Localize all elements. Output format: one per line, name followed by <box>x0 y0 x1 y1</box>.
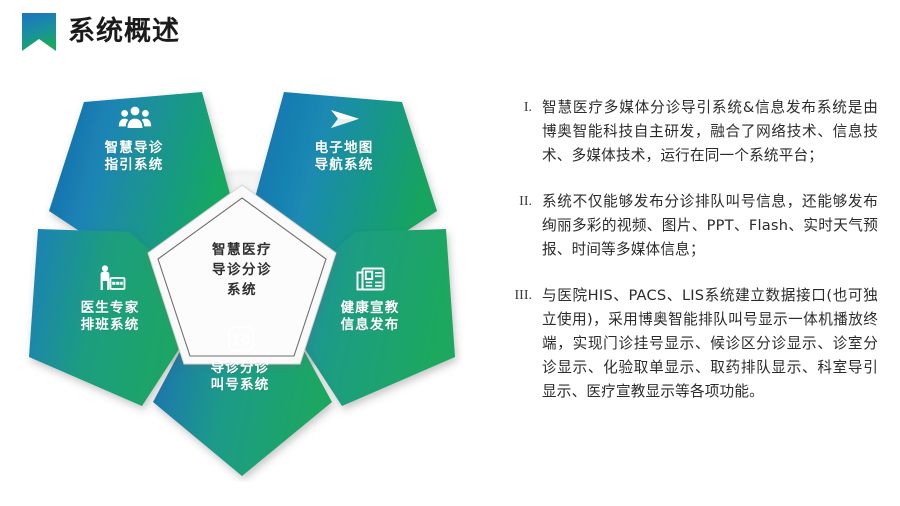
number-badge-10-icon: 10 <box>224 322 258 356</box>
petal-label-smart-triage-guidance: 智慧导诊 指引系统 <box>74 140 194 174</box>
page-header: 系统概述 <box>0 0 900 70</box>
center-pentagon-label: 智慧医疗 导诊分诊 系统 <box>172 240 312 300</box>
description-text: 与医院HIS、PACS、LIS系统建立数据接口(也可独立使用)，采用博奥智能排队… <box>542 284 878 404</box>
petal-label-electronic-map-navigation: 电子地图 导航系统 <box>284 140 404 174</box>
petal-label-line: 导诊分诊 <box>180 360 300 377</box>
doctor-desk-icon <box>94 262 128 296</box>
description-text: 系统不仅能够发布分诊排队叫号信息，还能够发布绚丽多彩的视频、图片、PPT、Fla… <box>542 190 878 262</box>
newspaper-icon <box>354 262 388 296</box>
petal-label-line: 智慧导诊 <box>74 140 194 157</box>
petal-label-line: 电子地图 <box>284 140 404 157</box>
list-marker: I. <box>486 96 542 120</box>
list-marker: III. <box>486 284 542 308</box>
pentagon-petal-diagram: 10 智慧导诊 指引系统 电子地图 导航系统 健康宣教 <box>22 72 462 482</box>
petal-label-line: 指引系统 <box>74 157 194 174</box>
petal-label-line: 叫号系统 <box>180 377 300 394</box>
svg-text:10: 10 <box>231 333 251 349</box>
center-label-line: 系统 <box>172 280 312 300</box>
description-item: I. 智慧医疗多媒体分诊导引系统&信息发布系统是由博奥智能科技自主研发，融合了网… <box>486 96 878 168</box>
petal-label-line: 信息发布 <box>310 317 430 334</box>
petal-label-triage-queue-calling: 导诊分诊 叫号系统 <box>180 360 300 394</box>
bookmark-icon <box>18 11 60 53</box>
description-text: 智慧医疗多媒体分诊导引系统&信息发布系统是由博奥智能科技自主研发，融合了网络技术… <box>542 96 878 168</box>
petal-label-line: 导航系统 <box>284 157 404 174</box>
petal-label-health-education-publishing: 健康宣教 信息发布 <box>310 300 430 334</box>
petal-label-doctor-expert-scheduling: 医生专家 排班系统 <box>50 300 170 334</box>
page-title: 系统概述 <box>68 14 180 50</box>
petal-label-line: 排班系统 <box>50 317 170 334</box>
center-label-line: 导诊分诊 <box>172 260 312 280</box>
people-group-icon <box>118 102 152 136</box>
center-label-line: 智慧医疗 <box>172 240 312 260</box>
description-item: III. 与医院HIS、PACS、LIS系统建立数据接口(也可独立使用)，采用博… <box>486 284 878 404</box>
description-item: II. 系统不仅能够发布分诊排队叫号信息，还能够发布绚丽多彩的视频、图片、PPT… <box>486 190 878 262</box>
petal-label-line: 健康宣教 <box>310 300 430 317</box>
petal-label-line: 医生专家 <box>50 300 170 317</box>
description-list: I. 智慧医疗多媒体分诊导引系统&信息发布系统是由博奥智能科技自主研发，融合了网… <box>486 96 878 404</box>
paper-plane-icon <box>328 102 362 136</box>
list-marker: II. <box>486 190 542 214</box>
